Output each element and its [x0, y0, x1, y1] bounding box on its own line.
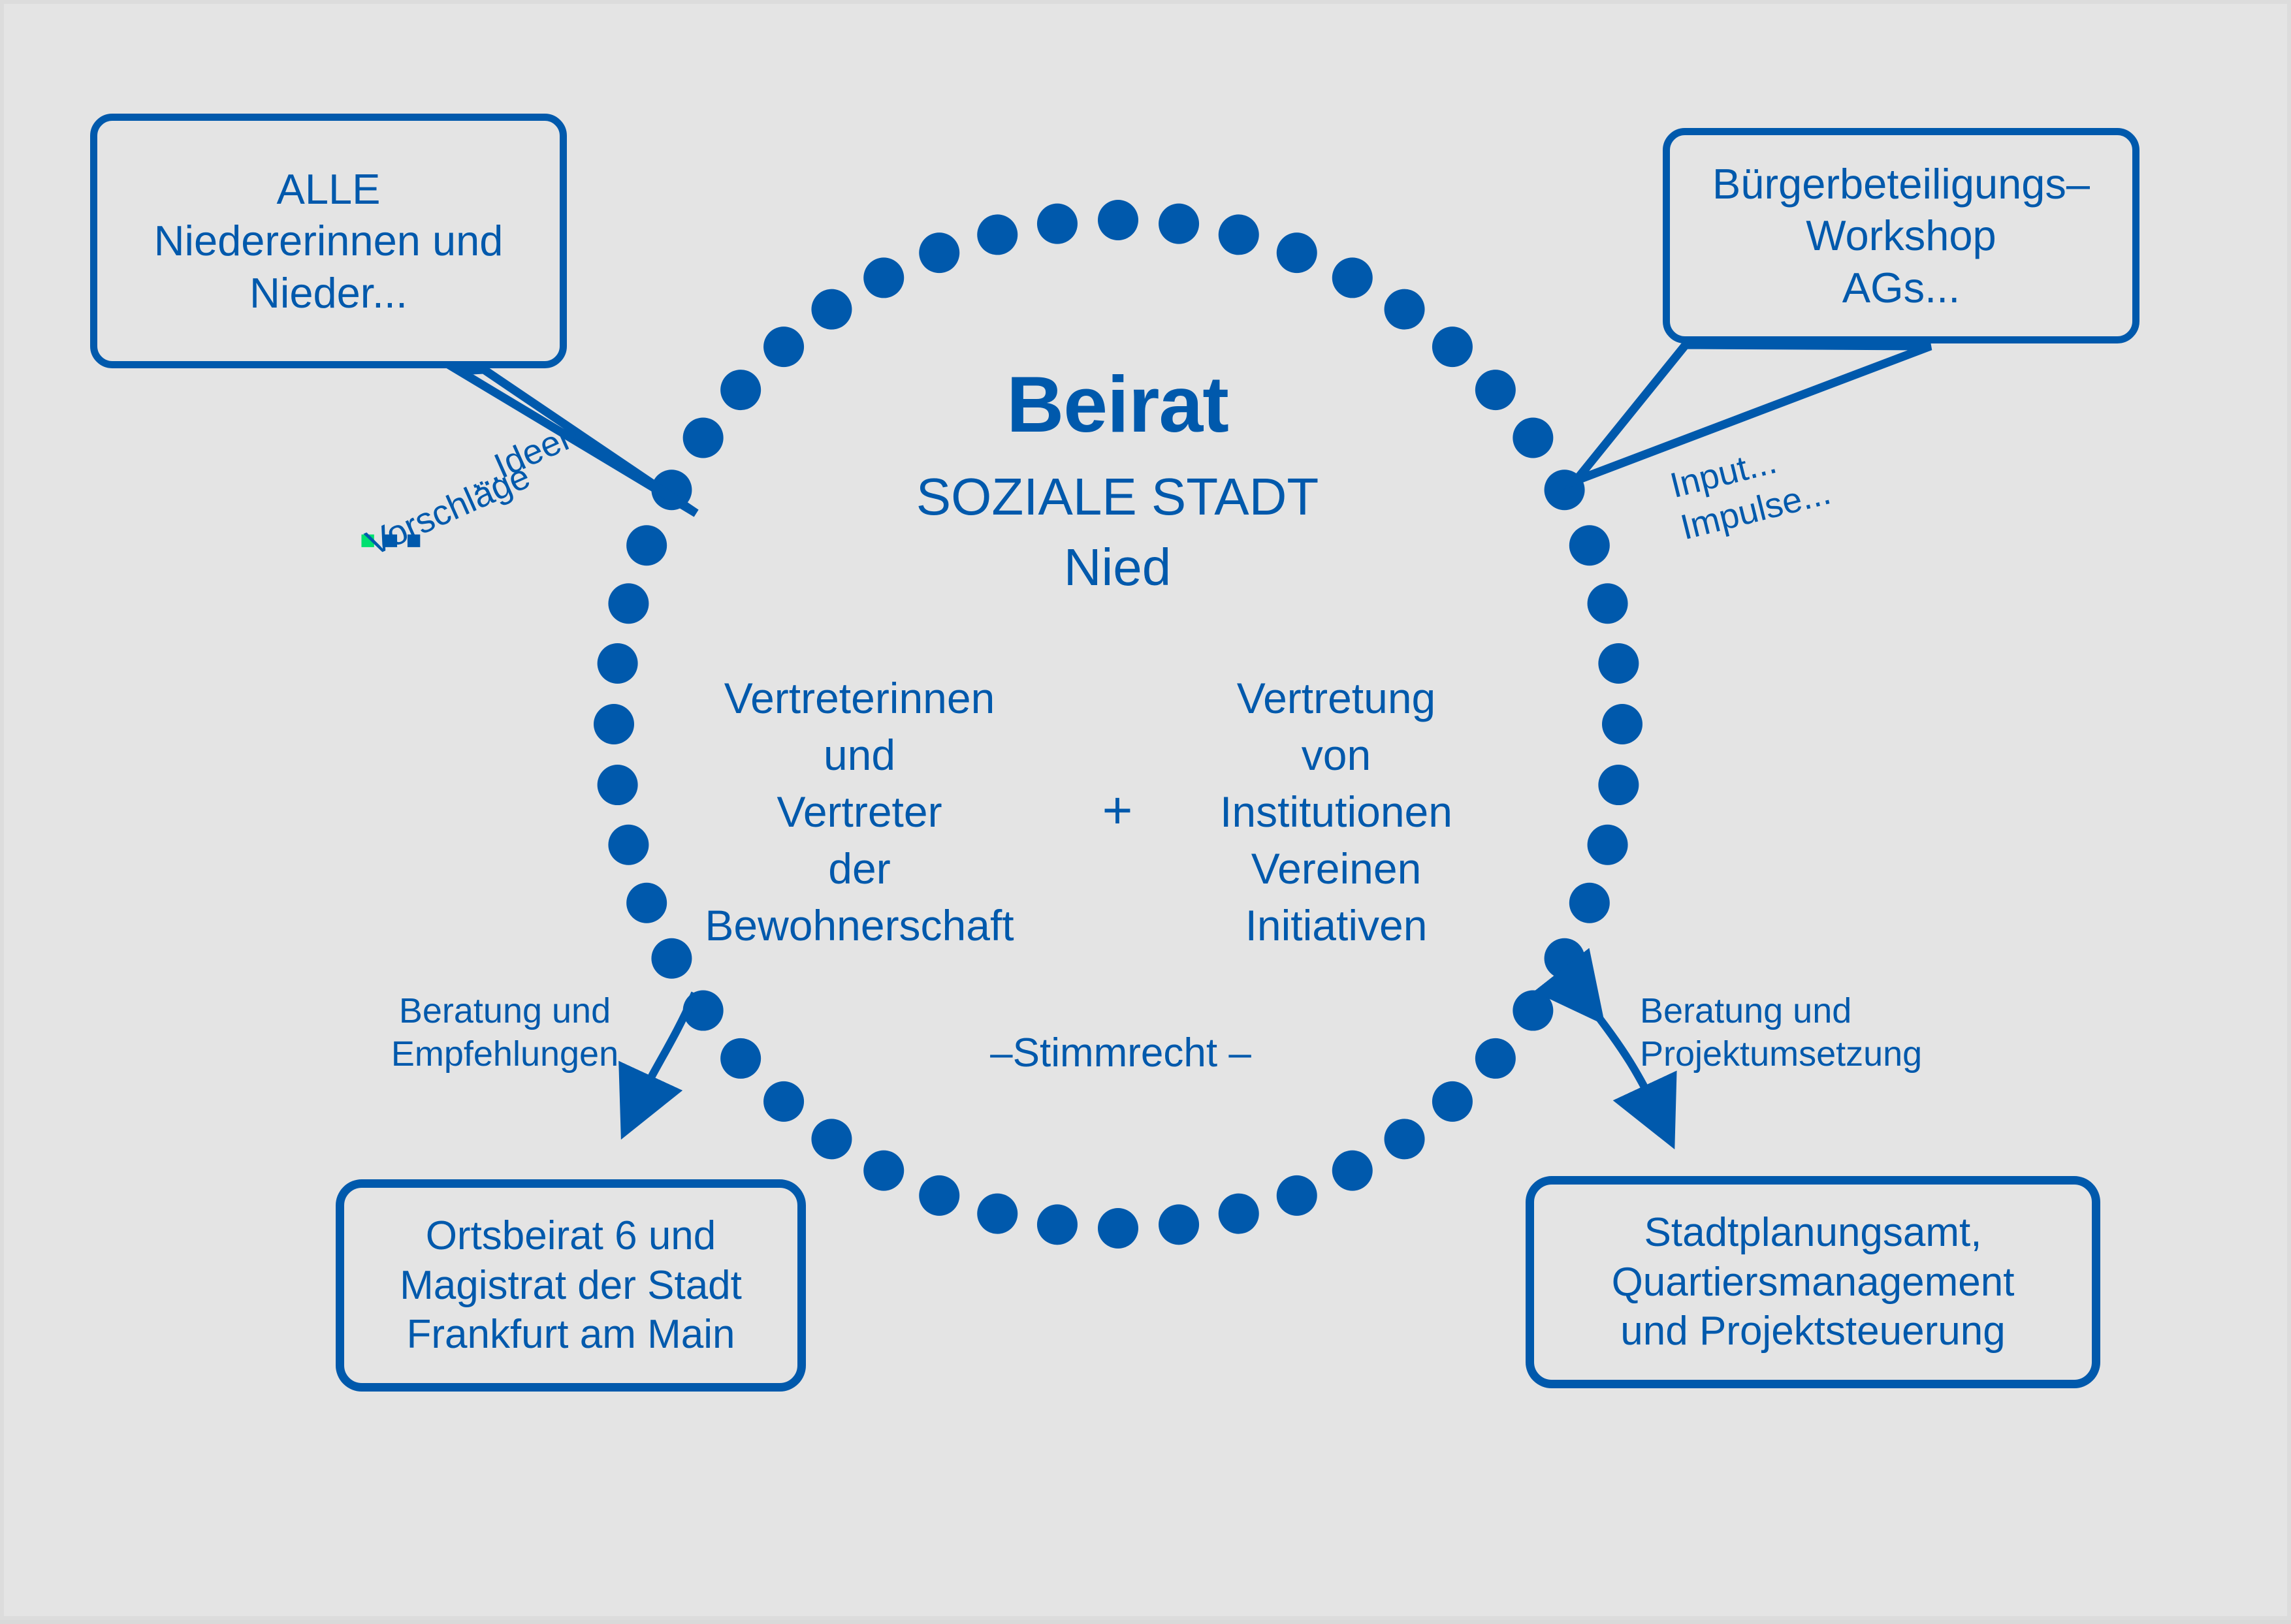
members-column-institutions: Vertretung von Institutionen Vereinen In… [1173, 670, 1499, 955]
circle-dot [598, 765, 638, 805]
circle-dot [1385, 289, 1425, 330]
circle-dot [626, 883, 667, 923]
circle-dot [720, 1038, 761, 1079]
circle-dot [1432, 326, 1473, 367]
circle-dot [919, 1175, 959, 1216]
circle-dot [598, 643, 638, 684]
members-column-residents: Vertreterinnen und Vertreter der Bewohne… [677, 670, 1042, 955]
circle-dot [1513, 991, 1553, 1031]
circle-dot [1513, 417, 1553, 458]
circle-dot [608, 583, 649, 624]
circle-dot [626, 525, 667, 565]
circle-dot [1277, 232, 1317, 273]
speech-bubble-participation-text: Bürgerbeteiligungs– Workshop AGs... [1712, 158, 2090, 313]
speech-bubble-residents-text: ALLE Niedererinnen und Nieder... [154, 163, 504, 319]
circle-dot [763, 326, 804, 367]
circle-dot [1432, 1081, 1473, 1122]
box-ortsbeirat-magistrat-text: Ortsbeirat 6 und Magistrat der Stadt Fra… [400, 1211, 742, 1360]
circle-dot [1332, 257, 1373, 298]
circle-dot [683, 417, 724, 458]
annotation-beratung-projektumsetzung: Beratung und Projektumsetzung [1640, 990, 1953, 1076]
circle-dot [863, 257, 904, 298]
circle-dot [1475, 1038, 1516, 1079]
diagram-canvas: ALLE Niedererinnen und Nieder... Bürgerb… [0, 0, 2291, 1620]
box-stadtplanungsamt-text: Stadtplanungsamt, Quartiersmanagement un… [1612, 1208, 2015, 1356]
circle-dot [919, 232, 959, 273]
circle-dot [1159, 1204, 1199, 1245]
circle-dot [1037, 1204, 1078, 1245]
circle-dot [763, 1081, 804, 1122]
circle-dot [1475, 370, 1516, 410]
speech-bubble-participation[interactable]: Bürgerbeteiligungs– Workshop AGs... [1663, 128, 2139, 343]
circle-dot [1332, 1151, 1373, 1191]
box-ortsbeirat-magistrat[interactable]: Ortsbeirat 6 und Magistrat der Stadt Fra… [336, 1179, 806, 1392]
circle-dot [1569, 883, 1610, 923]
circle-dot [1598, 643, 1639, 684]
circle-dot [594, 704, 634, 744]
circle-dot [608, 825, 649, 865]
circle-dot [1588, 825, 1628, 865]
voting-rights-note: –Stimmrecht – [918, 1030, 1323, 1075]
circle-dot [1037, 204, 1078, 244]
circle-dot [811, 289, 852, 330]
plus-icon: + [1075, 781, 1160, 840]
arrow-beirat-to-ortsbeirat [633, 993, 695, 1114]
circle-dot [1098, 1208, 1138, 1249]
circle-dot [977, 214, 1017, 255]
circle-dot [1588, 583, 1628, 624]
box-stadtplanungsamt[interactable]: Stadtplanungsamt, Quartiersmanagement un… [1526, 1176, 2100, 1388]
page-title: Beirat [804, 360, 1431, 449]
circle-dot [977, 1194, 1017, 1234]
page-subtitle-line2: Nied [804, 538, 1431, 597]
circle-dot [1159, 204, 1199, 244]
circle-dot [1385, 1119, 1425, 1159]
circle-dot [1598, 765, 1639, 805]
circle-dot [1277, 1175, 1317, 1216]
circle-dot [1602, 704, 1642, 744]
circle-dot [1545, 938, 1585, 979]
page-subtitle-line1: SOZIALE STADT [804, 468, 1431, 526]
circle-dot [1098, 200, 1138, 240]
circle-dot [863, 1151, 904, 1191]
circle-dot [1219, 1194, 1259, 1234]
circle-dot [811, 1119, 852, 1159]
circle-dot [1569, 525, 1610, 565]
annotation-beratung-empfehlungen: Beratung und Empfehlungen [377, 990, 632, 1076]
circle-dot [1219, 214, 1259, 255]
speech-bubble-residents[interactable]: ALLE Niedererinnen und Nieder... [90, 114, 567, 368]
circle-dot [720, 370, 761, 410]
